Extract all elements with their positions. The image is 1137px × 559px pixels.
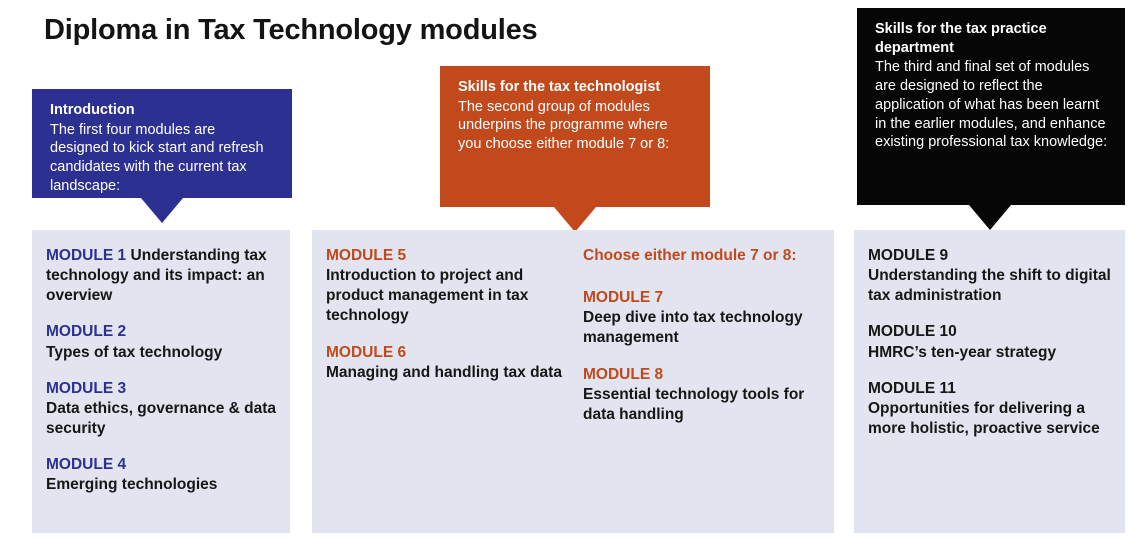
module-description: Introduction to project and product mana… (326, 266, 563, 326)
module-item: MODULE 6 Managing and handling tax data (326, 343, 563, 383)
callout-practice-department-pointer-icon (969, 205, 1011, 230)
module-item: MODULE 7 Deep dive into tax technology m… (583, 288, 820, 348)
module-item: MODULE 11 Opportunities for delivering a… (868, 379, 1111, 439)
module-panel-introduction: MODULE 1 Understanding tax technology an… (32, 230, 290, 533)
module-item: MODULE 4 Emerging technologies (46, 455, 276, 495)
page-title: Diploma in Tax Technology modules (44, 14, 537, 47)
module-heading: MODULE 5 (326, 246, 563, 266)
module-description: Data ethics, governance & data security (46, 399, 276, 439)
module-heading: MODULE 4 (46, 455, 276, 475)
callout-practice-department: Skills for the tax practice department T… (857, 8, 1125, 205)
module-description: Deep dive into tax technology management (583, 308, 820, 348)
choose-module-note: Choose either module 7 or 8: (583, 246, 820, 266)
callout-introduction-title: Introduction (50, 101, 276, 120)
module-item: MODULE 3 Data ethics, governance & data … (46, 379, 276, 439)
callout-technologist-title: Skills for the tax technologist (458, 78, 694, 97)
callout-technologist-body: The second group of modules underpins th… (458, 98, 694, 155)
module-heading: MODULE 6 (326, 343, 563, 363)
module-panel-technologist: MODULE 5 Introduction to project and pro… (312, 230, 834, 533)
callout-technologist-pointer-icon (554, 207, 596, 232)
callout-introduction-body: The first four modules are designed to k… (50, 121, 276, 196)
module-heading: MODULE 9 (868, 246, 1111, 266)
module-heading: MODULE 1 (46, 247, 126, 264)
module-item: MODULE 2 Types of tax technology (46, 322, 276, 362)
module-item: MODULE 10 HMRC’s ten-year strategy (868, 322, 1111, 362)
module-column-2: MODULE 5 Introduction to project and pro… (326, 246, 563, 533)
module-description: Opportunities for delivering a more holi… (868, 399, 1111, 439)
module-heading: MODULE 11 (868, 379, 1111, 399)
module-description: HMRC’s ten-year strategy (868, 343, 1111, 363)
module-description: Types of tax technology (46, 343, 276, 363)
module-item: MODULE 8 Essential technology tools for … (583, 365, 820, 425)
callout-introduction: Introduction The first four modules are … (32, 89, 292, 198)
module-column-4: MODULE 9 Understanding the shift to digi… (868, 246, 1111, 533)
callout-practice-department-title: Skills for the tax practice department (875, 20, 1109, 57)
module-heading: MODULE 7 (583, 288, 820, 308)
module-item: MODULE 1 Understanding tax technology an… (46, 246, 276, 306)
module-description: Essential technology tools for data hand… (583, 385, 820, 425)
module-heading: MODULE 3 (46, 379, 276, 399)
infographic-canvas: Diploma in Tax Technology modules Introd… (0, 0, 1137, 559)
callout-practice-department-body: The third and final set of modules are d… (875, 58, 1109, 152)
callout-introduction-pointer-icon (141, 198, 183, 223)
module-panel-practice-department: MODULE 9 Understanding the shift to digi… (854, 230, 1125, 533)
module-heading: MODULE 10 (868, 322, 1111, 342)
module-item: MODULE 5 Introduction to project and pro… (326, 246, 563, 327)
callout-technologist: Skills for the tax technologist The seco… (440, 66, 710, 207)
module-description: Emerging technologies (46, 475, 276, 495)
module-column-3: Choose either module 7 or 8: MODULE 7 De… (563, 246, 820, 533)
module-description: Managing and handling tax data (326, 363, 563, 383)
module-item: MODULE 9 Understanding the shift to digi… (868, 246, 1111, 306)
module-description: Understanding the shift to digital tax a… (868, 266, 1111, 306)
module-heading: MODULE 2 (46, 322, 276, 342)
module-column-1: MODULE 1 Understanding tax technology an… (46, 246, 276, 533)
module-heading: MODULE 8 (583, 365, 820, 385)
